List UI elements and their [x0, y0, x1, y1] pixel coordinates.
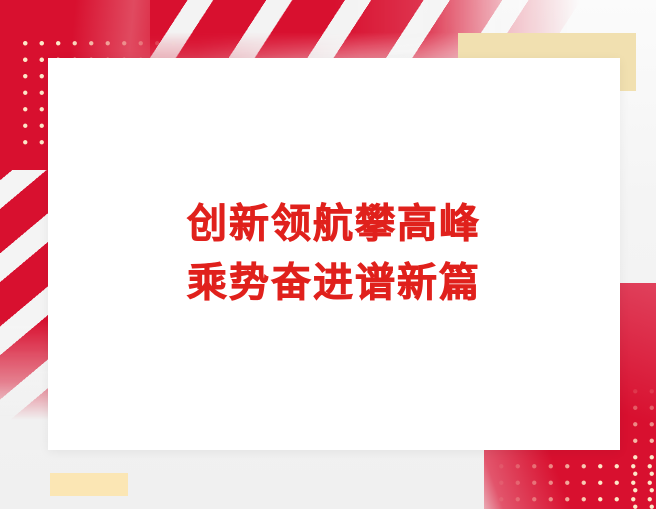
title-slide: 创新领航攀高峰 乘势奋进谱新篇 [0, 0, 656, 509]
gold-accent-top-right [458, 33, 636, 58]
gold-accent-bottom-left [50, 473, 128, 496]
dot-grid-bottom-right-column [624, 380, 656, 509]
headline-block: 创新领航攀高峰 乘势奋进谱新篇 [48, 58, 620, 450]
gold-accent-top-right-leg [620, 33, 636, 91]
headline-line-2: 乘势奋进谱新篇 [187, 259, 481, 308]
headline-line-1: 创新领航攀高峰 [187, 200, 481, 249]
